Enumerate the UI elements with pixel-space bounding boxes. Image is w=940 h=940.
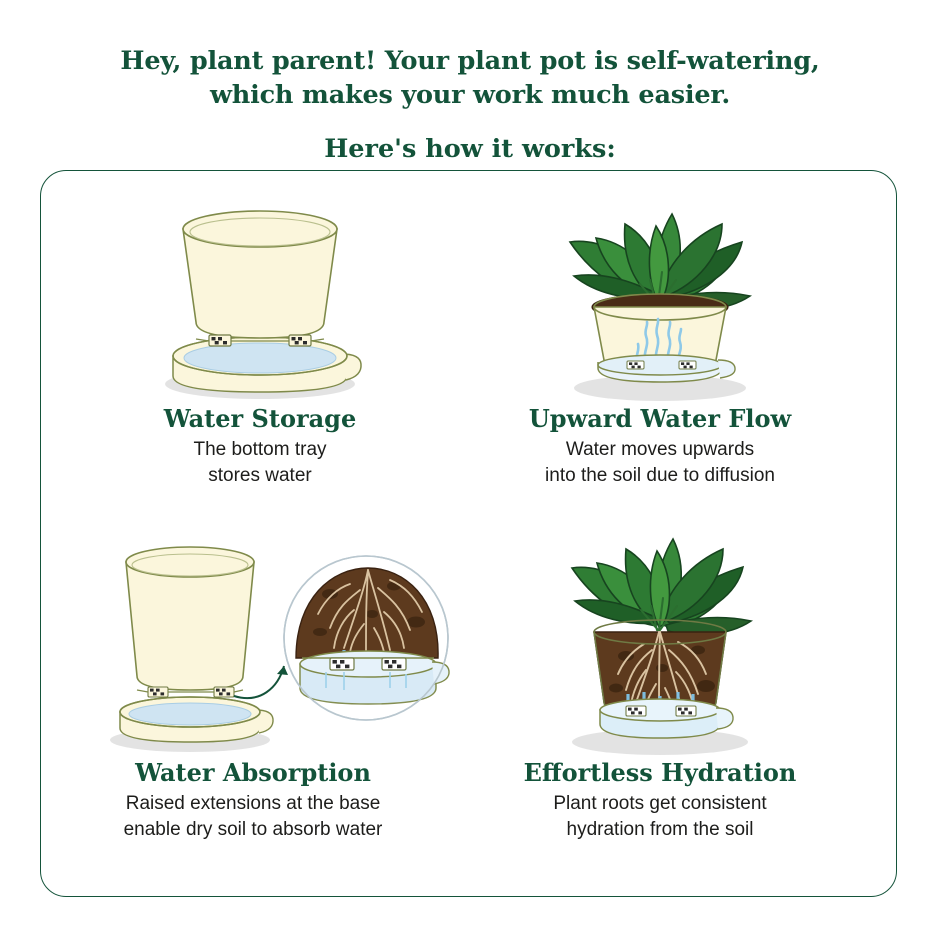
- headline-line-2: which makes your work much easier.: [0, 78, 940, 112]
- illustration-upward-water-flow: [450, 176, 870, 404]
- cell-desc-line-2: into the soil due to diffusion: [450, 463, 870, 489]
- feature-cell-water-storage: Water Storage The bottom tray stores wat…: [55, 196, 465, 489]
- base-extension-left: [148, 687, 168, 697]
- cell-title: Water Absorption: [38, 758, 468, 788]
- plant-pot: [126, 547, 254, 690]
- cell-title: Upward Water Flow: [450, 404, 870, 434]
- caption-water-storage: Water Storage The bottom tray stores wat…: [55, 404, 465, 489]
- base-extension-left: [626, 706, 646, 716]
- base-extension-right: [214, 687, 234, 697]
- water-tray: [600, 699, 733, 738]
- magnifier-detail: [284, 556, 449, 720]
- illustration-water-storage: [55, 196, 465, 404]
- cell-desc-line-2: enable dry soil to absorb water: [38, 817, 468, 843]
- water-tray: [120, 697, 273, 742]
- cell-desc-line-1: Plant roots get consistent: [450, 791, 870, 817]
- infographic-page: Hey, plant parent! Your plant pot is sel…: [0, 0, 940, 940]
- cell-desc-line-1: Water moves upwards: [450, 437, 870, 463]
- tray-water: [129, 703, 251, 725]
- base-extension-left: [627, 361, 644, 369]
- water-tray: [173, 337, 361, 392]
- page-headline: Hey, plant parent! Your plant pot is sel…: [0, 44, 940, 112]
- base-extension-left: [209, 335, 231, 346]
- illustration-water-absorption: [38, 528, 468, 758]
- caption-water-absorption: Water Absorption Raised extensions at th…: [38, 758, 468, 843]
- cell-desc-line-2: stores water: [55, 463, 465, 489]
- feature-cell-water-absorption: Water Absorption Raised extensions at th…: [38, 528, 468, 843]
- tray-water: [184, 343, 336, 373]
- cell-desc-line-2: hydration from the soil: [450, 817, 870, 843]
- cell-title: Water Storage: [55, 404, 465, 434]
- caption-effortless-hydration: Effortless Hydration Plant roots get con…: [450, 758, 870, 843]
- base-extension-right: [676, 706, 696, 716]
- caption-upward-water-flow: Upward Water Flow Water moves upwards in…: [450, 404, 870, 489]
- plant-pot: [183, 211, 337, 338]
- feature-cell-upward-water-flow: Upward Water Flow Water moves upwards in…: [450, 176, 870, 489]
- illustration-effortless-hydration: [450, 510, 870, 758]
- page-subheadline: Here's how it works:: [0, 132, 940, 166]
- base-extension-detail-left: [330, 658, 354, 670]
- feature-cell-effortless-hydration: Effortless Hydration Plant roots get con…: [450, 510, 870, 843]
- headline-line-1: Hey, plant parent! Your plant pot is sel…: [120, 46, 819, 76]
- base-extension-right: [679, 361, 696, 369]
- cell-desc-line-1: Raised extensions at the base: [38, 791, 468, 817]
- cell-title: Effortless Hydration: [450, 758, 870, 788]
- cell-desc-line-1: The bottom tray: [55, 437, 465, 463]
- base-extension-detail-right: [382, 658, 406, 670]
- base-extension-right: [289, 335, 311, 346]
